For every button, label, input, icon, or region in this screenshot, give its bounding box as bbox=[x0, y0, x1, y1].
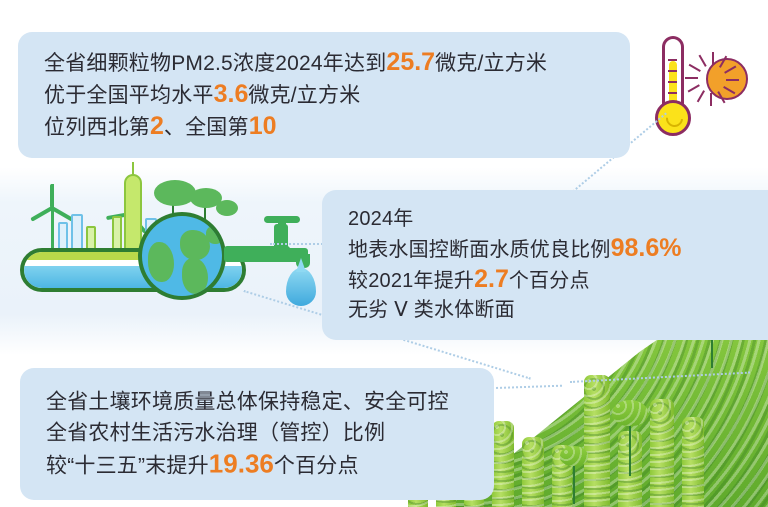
card-line: 较“十三五”末提升19.36个百分点 bbox=[46, 449, 480, 482]
hill-tree bbox=[560, 446, 588, 504]
highlight-value: 10 bbox=[249, 112, 277, 140]
thermometer-sun-illustration bbox=[648, 28, 766, 158]
text-segment: 较2021年提升 bbox=[348, 270, 474, 292]
card-line: 无劣 Ⅴ 类水体断面 bbox=[348, 296, 768, 325]
water-quality-card: 2024年 地表水国控断面水质优良比例98.6% 较2021年提升2.7个百分点… bbox=[322, 190, 768, 340]
infographic-canvas: 全省细颗粒物PM2.5浓度2024年达到25.7微克/立方米 优于全国平均水平3… bbox=[0, 0, 768, 507]
card-text-block: 全省细颗粒物PM2.5浓度2024年达到25.7微克/立方米 优于全国平均水平3… bbox=[44, 47, 616, 143]
thermometer-tick bbox=[668, 59, 677, 61]
text-segment: 微克/立方米 bbox=[248, 84, 360, 107]
text-segment: 位列西北第 bbox=[44, 116, 150, 139]
text-segment: 全省农村生活污水治理（管控）比例 bbox=[46, 422, 385, 445]
text-segment: 较“十三五”末提升 bbox=[46, 455, 209, 478]
sun-ray bbox=[699, 55, 707, 67]
text-segment: 个百分点 bbox=[509, 270, 590, 292]
card-line: 较2021年提升2.7个百分点 bbox=[348, 265, 768, 296]
bar-item bbox=[682, 417, 704, 507]
card-line: 位列西北第2、全国第10 bbox=[44, 111, 616, 143]
thermometer-tick bbox=[668, 70, 677, 72]
highlight-value: 25.7 bbox=[386, 48, 435, 76]
text-segment: 、全国第 bbox=[164, 116, 249, 139]
text-segment: 个百分点 bbox=[274, 455, 359, 478]
connector-tap-to-water-card bbox=[270, 243, 326, 245]
card-line: 优于全国平均水平3.6微克/立方米 bbox=[44, 79, 616, 111]
bar-item bbox=[522, 437, 544, 507]
text-segment: 全省细颗粒物PM2.5浓度2024年达到 bbox=[44, 52, 386, 75]
thermometer-tick bbox=[668, 81, 677, 83]
soil-quality-card: 全省土壤环境质量总体保持稳定、安全可控 全省农村生活污水治理（管控）比例 较“十… bbox=[20, 368, 494, 500]
card-line: 全省细颗粒物PM2.5浓度2024年达到25.7微克/立方米 bbox=[44, 47, 616, 79]
sun-ray bbox=[685, 77, 698, 79]
highlight-value: 2 bbox=[150, 112, 164, 140]
sun-ray bbox=[726, 79, 739, 81]
card-line: 地表水国控断面水质优良比例98.6% bbox=[348, 234, 768, 265]
text-segment: 无劣 Ⅴ 类水体断面 bbox=[348, 299, 515, 321]
highlight-value: 98.6% bbox=[611, 234, 682, 262]
card-line: 全省农村生活污水治理（管控）比例 bbox=[46, 418, 480, 449]
air-quality-card: 全省细颗粒物PM2.5浓度2024年达到25.7微克/立方米 优于全国平均水平3… bbox=[18, 32, 630, 158]
highlight-value: 3.6 bbox=[214, 80, 249, 108]
text-segment: 优于全国平均水平 bbox=[44, 84, 214, 107]
text-segment: 微克/立方米 bbox=[435, 52, 547, 75]
highlight-value: 19.36 bbox=[209, 449, 274, 479]
highlight-value: 2.7 bbox=[474, 265, 509, 293]
text-segment: 地表水国控断面水质优良比例 bbox=[348, 239, 611, 261]
sun-ray bbox=[697, 90, 705, 102]
sun-ray bbox=[712, 52, 714, 65]
bar-item bbox=[492, 421, 514, 507]
text-segment: 全省土壤环境质量总体保持稳定、安全可控 bbox=[46, 391, 449, 414]
hill-tree bbox=[612, 400, 648, 476]
globe-icon bbox=[138, 212, 226, 300]
card-line: 2024年 bbox=[348, 205, 768, 234]
bar-item bbox=[650, 399, 674, 507]
thermometer-tick bbox=[668, 92, 677, 94]
card-text-block: 2024年 地表水国控断面水质优良比例98.6% 较2021年提升2.7个百分点… bbox=[348, 205, 768, 325]
sun-ray bbox=[710, 93, 712, 106]
text-segment: 2024年 bbox=[348, 208, 414, 230]
eco-water-illustration bbox=[14, 176, 334, 356]
card-line: 全省土壤环境质量总体保持稳定、安全可控 bbox=[46, 387, 480, 418]
sun-ray bbox=[689, 64, 701, 72]
card-text-block: 全省土壤环境质量总体保持稳定、安全可控 全省农村生活污水治理（管控）比例 较“十… bbox=[46, 387, 480, 482]
sun-ray bbox=[688, 84, 700, 92]
